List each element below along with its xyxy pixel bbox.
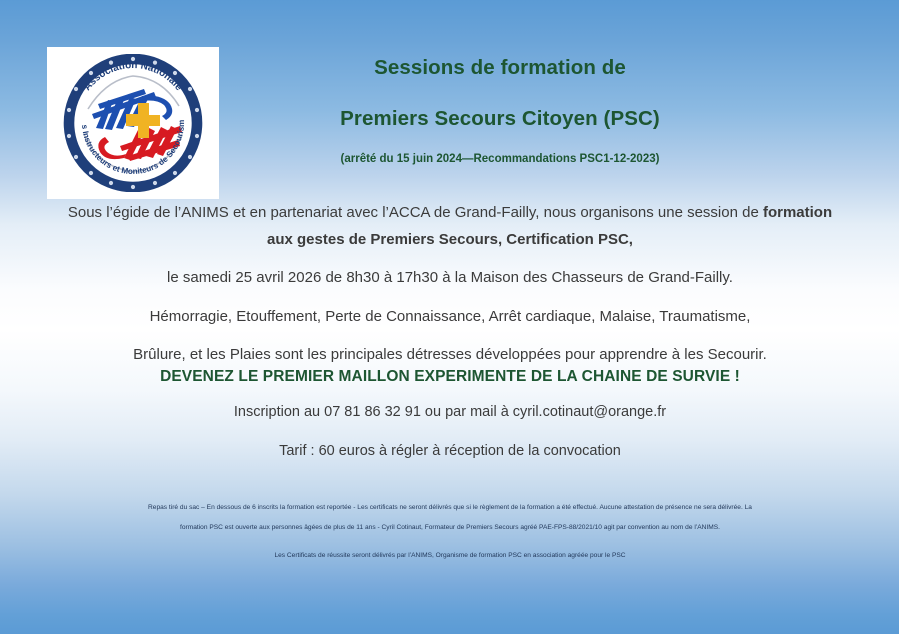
body-paragraph-1: Sous l’égide de l’ANIMS et en partenaria… bbox=[45, 205, 855, 222]
heading-line-2: Premiers Secours Citoyen (PSC) bbox=[240, 108, 760, 131]
contact-line-price: Tarif : 60 euros à régler à réception de… bbox=[45, 444, 855, 460]
body-paragraph-5: Brûlure, et les Plaies sont les principa… bbox=[45, 347, 855, 364]
fineprint-line-3: Les Certificats de réussite seront déliv… bbox=[50, 553, 850, 560]
flyer-page: Association Nationale Association Nation… bbox=[0, 0, 899, 634]
body-paragraph-1-plain: Sous l’égide de l’ANIMS et en partenaria… bbox=[68, 204, 763, 221]
heading-subtitle: (arrêté du 15 juin 2024—Recommandations … bbox=[240, 153, 760, 165]
anims-logo-icon: Association Nationale Association Nation… bbox=[58, 54, 208, 192]
body-paragraph-1-bold: formation bbox=[763, 204, 832, 221]
body-block: Sous l’égide de l’ANIMS et en partenaria… bbox=[45, 205, 855, 364]
heading-line-1: Sessions de formation de bbox=[240, 57, 760, 80]
heading-block: Sessions de formation de Premiers Secour… bbox=[240, 57, 760, 165]
fineprint-line-1: Repas tiré du sac – En dessous de 6 insc… bbox=[50, 505, 850, 512]
contact-block: Inscription au 07 81 86 32 91 ou par mai… bbox=[45, 405, 855, 460]
contact-line-registration: Inscription au 07 81 86 32 91 ou par mai… bbox=[45, 405, 855, 421]
anims-logo: Association Nationale Association Nation… bbox=[47, 47, 219, 199]
body-paragraph-3: le samedi 25 avril 2026 de 8h30 à 17h30 … bbox=[45, 270, 855, 287]
body-paragraph-2: aux gestes de Premiers Secours, Certific… bbox=[45, 232, 855, 249]
slogan: DEVENEZ LE PREMIER MAILLON EXPERIMENTE D… bbox=[45, 368, 855, 386]
body-paragraph-4: Hémorragie, Etouffement, Perte de Connai… bbox=[45, 309, 855, 326]
fineprint-line-2: formation PSC est ouverte aux personnes … bbox=[50, 525, 850, 532]
fineprint-block: Repas tiré du sac – En dessous de 6 insc… bbox=[50, 505, 850, 560]
